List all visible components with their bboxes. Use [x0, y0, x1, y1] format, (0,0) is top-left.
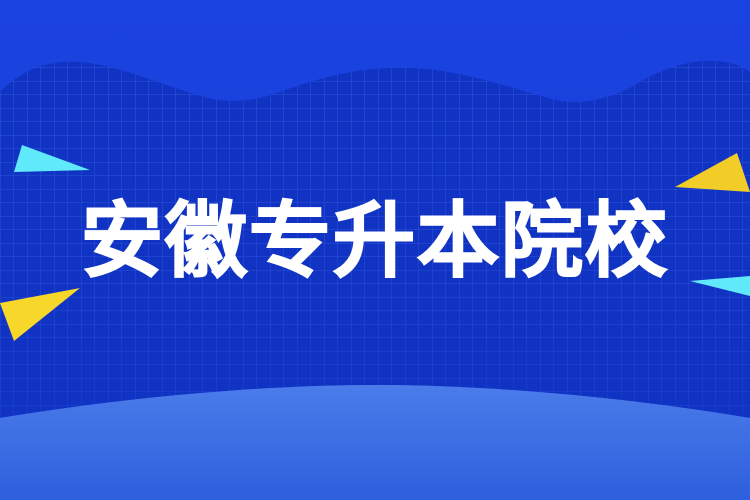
cyan-triangle-top-left-icon: [14, 145, 90, 172]
yellow-triangle-left-icon: [0, 288, 80, 341]
page-title: 安徽专升本院校: [81, 201, 669, 283]
title-container: 安徽专升本院校: [0, 196, 750, 288]
banner-graphic: 安徽专升本院校: [0, 0, 750, 500]
yellow-triangle-right-icon: [675, 153, 750, 192]
